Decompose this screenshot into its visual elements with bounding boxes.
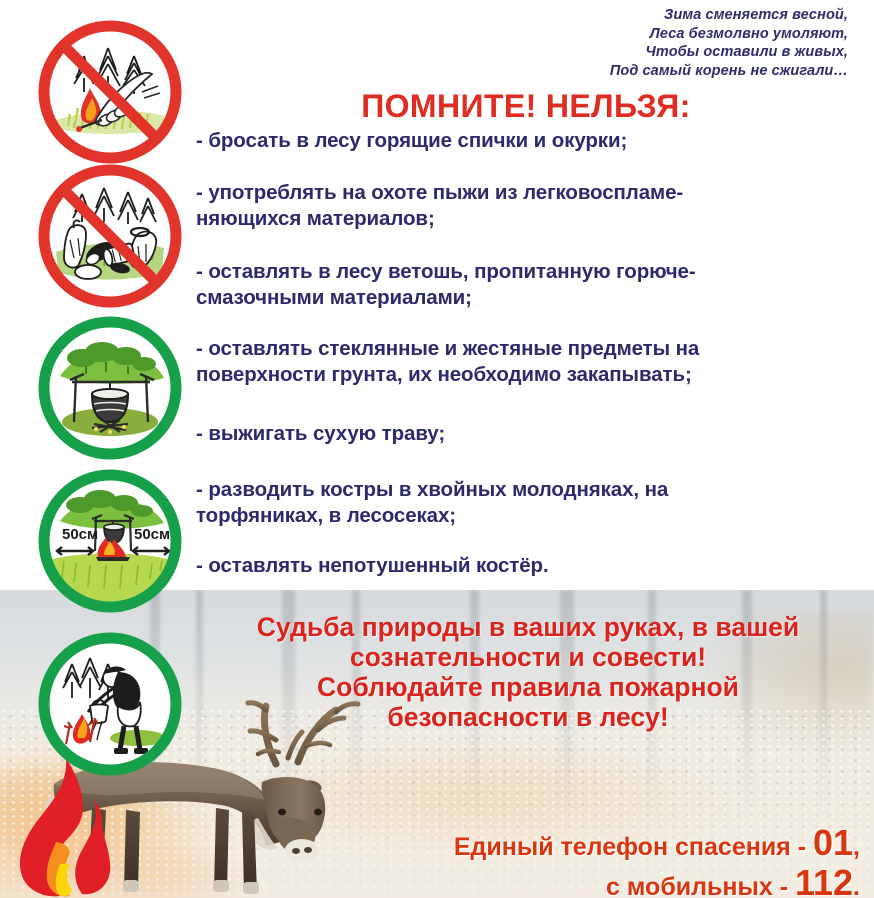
page-title: ПОМНИТЕ! НЕЛЬЗЯ: <box>196 88 856 125</box>
emergency-phone-block: Единый телефон спасения - 01, с мобильны… <box>300 825 860 898</box>
slogan-line: Судьба природы в ваших руках, в вашей <box>196 612 860 642</box>
rule-line: смазочными материалами; <box>196 285 860 311</box>
rule-line: - употреблять на охоте пыжи из легковосп… <box>196 180 860 206</box>
sign-extinguish-campfire-with-water <box>34 628 186 780</box>
emergency-punct-1: , <box>853 833 860 861</box>
rule-item-2: - употреблять на охоте пыжи из легковосп… <box>196 180 860 232</box>
rule-item-6: - разводить костры в хвойных молодняках,… <box>196 477 860 529</box>
poem-line: Зима сменяется весной, <box>518 6 848 25</box>
poem-stanza: Зима сменяется весной, Леса безмолвно ум… <box>518 6 848 80</box>
rule-line: - оставлять стеклянные и жестяные предме… <box>196 336 860 362</box>
sign-no-littering-glass-cans <box>34 160 186 312</box>
rule-item-3: - оставлять в лесу ветошь, пропитанную г… <box>196 259 860 311</box>
rule-item-7: - оставлять непотушенный костёр. <box>196 553 860 579</box>
rule-item-4: - оставлять стеклянные и жестяные предме… <box>196 336 860 388</box>
rule-line: торфяниках, в лесосеках; <box>196 503 860 529</box>
emergency-number-2: 112 <box>795 862 853 898</box>
rule-item-5: - выжигать сухую траву; <box>196 421 860 447</box>
slogan-line: безопасности в лесу! <box>196 702 860 732</box>
rule-line: няющихся материалов; <box>196 206 860 232</box>
emergency-line-1: Единый телефон спасения - 01, <box>300 825 860 865</box>
poem-line: Под самый корень не сжигали… <box>518 62 848 81</box>
sign-no-throwing-matches <box>34 16 186 168</box>
emergency-label-2: с мобильных - <box>606 873 795 898</box>
rule-line: - оставлять непотушенный костёр. <box>196 554 549 577</box>
rule-line: - выжигать сухую траву; <box>196 422 445 445</box>
slogan-line: сознательности и совести! <box>196 642 860 672</box>
poem-line: Чтобы оставили в живых, <box>518 43 848 62</box>
poem-line: Леса безмолвно умоляют, <box>518 25 848 44</box>
sign-campfire-on-cleared-ground <box>34 312 186 464</box>
fire-safety-poster: Зима сменяется весной, Леса безмолвно ум… <box>0 0 874 898</box>
sign-campfire-clearance-50cm: 50см 50см <box>34 465 186 617</box>
emergency-punct-2: . <box>853 873 860 898</box>
slogan-block: Судьба природы в ваших руках, в вашей со… <box>196 612 860 732</box>
slogan-line: Соблюдайте правила пожарной <box>196 672 860 702</box>
rule-line: - бросать в лесу горящие спички и окурки… <box>196 129 627 152</box>
rule-item-1: - бросать в лесу горящие спички и окурки… <box>196 128 860 154</box>
emergency-line-2: с мобильных - 112. <box>300 865 860 898</box>
rule-line: - разводить костры в хвойных молодняках,… <box>196 477 860 503</box>
emergency-number-1: 01 <box>813 822 853 863</box>
rule-line: поверхности грунта, их необходимо закапы… <box>196 362 860 388</box>
clearance-label-right: 50см <box>134 526 170 543</box>
rule-line: - оставлять в лесу ветошь, пропитанную г… <box>196 259 860 285</box>
clearance-label-left: 50см <box>62 526 98 543</box>
emergency-label-1: Единый телефон спасения - <box>454 833 813 861</box>
